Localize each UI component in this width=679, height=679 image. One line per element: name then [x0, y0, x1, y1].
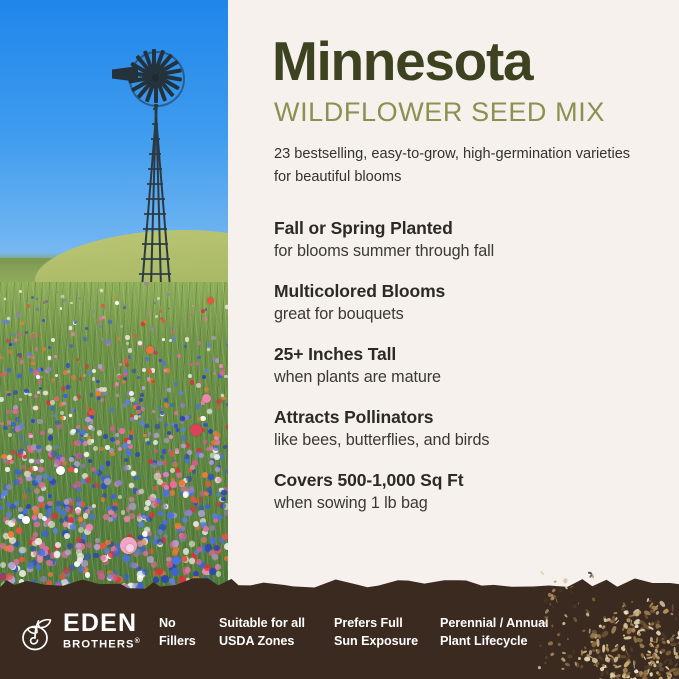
flower-bloom — [205, 481, 211, 487]
flower-bloom — [164, 423, 168, 427]
flower-bloom — [147, 556, 154, 563]
feature-title: Fall or Spring Planted — [274, 218, 651, 239]
flower-bloom — [47, 508, 52, 513]
flower-bloom — [20, 423, 25, 428]
flower-bloom — [24, 471, 30, 477]
flower-bloom — [139, 398, 143, 402]
flower-bloom — [61, 386, 66, 391]
flower-bloom — [125, 335, 129, 339]
windmill-tower-rung — [147, 183, 164, 185]
flower-bloom — [138, 341, 142, 345]
flower-bloom — [140, 393, 144, 397]
flower-bloom — [123, 306, 126, 309]
flower-bloom — [83, 337, 87, 341]
windmill-tower-rung — [152, 123, 159, 125]
flower-bloom — [179, 480, 185, 486]
flower-bloom — [25, 300, 27, 302]
flower-bloom — [63, 522, 68, 527]
flower-bloom — [112, 513, 117, 518]
flower-bloom — [185, 567, 191, 573]
flower-bloom — [76, 358, 79, 361]
flower-bloom — [174, 424, 178, 428]
flower-bloom — [147, 369, 152, 374]
flower-bloom — [126, 450, 132, 456]
flower-bloom — [70, 524, 76, 530]
flower-bloom-accent — [126, 544, 134, 552]
flower-bloom — [196, 404, 201, 409]
flower-bloom — [124, 369, 128, 373]
flower-bloom — [85, 477, 91, 483]
flower-bloom — [162, 361, 166, 365]
flower-bloom-accent — [56, 466, 65, 475]
flower-bloom — [197, 341, 201, 345]
footer-bar: EDEN BROTHERS® No Fillers Suitable for a… — [0, 589, 679, 679]
flower-bloom — [120, 325, 123, 328]
flower-bloom — [153, 486, 158, 491]
flower-bloom — [190, 465, 195, 470]
sprout-seed-icon — [20, 611, 56, 651]
flower-bloom — [92, 377, 96, 381]
product-description: 23 bestselling, easy-to-grow, high-germi… — [274, 143, 634, 187]
flower-bloom — [62, 402, 65, 405]
flower-bloom — [63, 394, 67, 398]
flower-bloom — [40, 459, 44, 463]
flower-bloom — [4, 546, 9, 551]
flower-bloom — [75, 440, 81, 446]
flower-bloom — [198, 510, 205, 517]
flower-bloom — [5, 467, 9, 471]
flower-bloom — [57, 291, 59, 293]
flower-bloom — [37, 557, 43, 563]
flower-bloom — [170, 490, 176, 496]
flower-bloom — [11, 450, 16, 455]
flower-bloom — [1, 454, 6, 459]
flower-bloom — [212, 357, 216, 361]
flower-bloom — [8, 433, 12, 437]
flower-bloom — [110, 437, 115, 442]
flower-bloom — [47, 367, 51, 371]
flower-bloom — [151, 328, 154, 331]
flower-bloom — [204, 368, 209, 373]
flower-bloom — [105, 445, 110, 450]
flower-bloom — [186, 476, 192, 482]
flower-bloom — [129, 497, 134, 502]
footer-bullet-sun-exposure: Prefers Full Sun Exposure — [334, 615, 418, 651]
flower-bloom — [219, 454, 225, 460]
flower-bloom — [64, 499, 70, 505]
flower-bloom — [167, 431, 171, 435]
flower-bloom — [60, 416, 64, 420]
flower-bloom — [171, 330, 175, 334]
flower-bloom — [76, 501, 81, 506]
flower-bloom-accent — [202, 394, 211, 403]
flower-bloom — [182, 517, 188, 523]
windmill-tower-rung — [149, 153, 161, 155]
flower-bloom — [190, 380, 194, 384]
flower-bloom — [181, 435, 186, 440]
flower-bloom — [51, 338, 55, 342]
flower-bloom — [185, 443, 189, 447]
flower-bloom — [55, 420, 60, 425]
flower-bloom — [45, 300, 48, 303]
flower-bloom — [47, 501, 53, 507]
flower-bloom — [50, 406, 55, 411]
flower-bloom — [95, 538, 100, 543]
flower-bloom — [205, 308, 207, 310]
flower-bloom — [101, 304, 104, 307]
windmill-tower-rung — [139, 273, 171, 275]
feature-subtitle: when sowing 1 lb bag — [274, 494, 651, 513]
flower-bloom — [51, 451, 57, 457]
page-title: Minnesota — [272, 34, 651, 89]
flower-bloom — [170, 542, 176, 548]
flower-bloom — [15, 417, 19, 421]
flower-bloom — [35, 538, 41, 544]
flower-bloom — [68, 467, 73, 472]
windmill-tower-rung — [146, 198, 165, 200]
windmill-tower-rung — [151, 138, 160, 140]
flower-bloom — [162, 338, 165, 341]
flower-bloom — [154, 449, 158, 453]
flower-bloom — [87, 439, 93, 445]
flower-bloom — [78, 527, 84, 533]
flower-bloom — [123, 555, 130, 562]
feature-subtitle: like bees, butterflies, and birds — [274, 431, 651, 450]
brand-name-secondary: BROTHERS® — [63, 638, 141, 651]
flower-bloom — [154, 473, 160, 479]
flower-bloom — [93, 553, 99, 559]
flower-bloom — [48, 356, 52, 360]
flower-bloom — [157, 461, 162, 466]
flower-bloom-accent — [22, 516, 30, 524]
flower-bloom — [180, 403, 185, 408]
flower-bloom — [6, 410, 10, 414]
flower-bloom — [40, 431, 45, 436]
flower-bloom — [29, 459, 34, 464]
flower-bloom — [84, 452, 89, 457]
flower-bloom — [19, 435, 23, 439]
flower-bloom — [65, 506, 70, 511]
windmill-tower-rung — [143, 228, 167, 230]
flower-bloom — [29, 435, 33, 439]
flower-bloom — [204, 564, 211, 571]
flower-bloom — [74, 468, 79, 473]
flower-bloom — [136, 410, 141, 415]
flower-bloom — [209, 550, 215, 556]
flower-bloom — [36, 564, 42, 570]
flower-bloom — [48, 435, 54, 441]
flower-bloom — [2, 320, 6, 324]
flower-bloom — [106, 340, 110, 344]
flower-bloom — [53, 528, 58, 533]
flower-bloom — [99, 325, 101, 327]
flower-bloom — [163, 472, 169, 478]
flower-bloom — [27, 562, 34, 569]
flower-bloom — [174, 382, 178, 386]
flower-bloom — [155, 315, 158, 318]
flower-bloom — [133, 334, 137, 338]
flower-bloom — [220, 503, 226, 509]
flower-bloom — [197, 417, 201, 421]
flower-bloom — [117, 337, 120, 340]
flower-bloom — [119, 428, 125, 434]
flower-bloom — [36, 445, 41, 450]
footer-bullet-plant-lifecycle: Perennial / Annual Plant Lifecycle — [440, 615, 549, 651]
flower-bloom — [7, 455, 12, 460]
flower-bloom — [32, 515, 37, 520]
flower-bloom — [170, 452, 175, 457]
flower-bloom — [98, 364, 103, 369]
flower-bloom — [97, 430, 102, 435]
flower-bloom — [75, 509, 81, 515]
flower-bloom — [57, 424, 62, 429]
flower-bloom — [213, 372, 216, 375]
flower-bloom — [221, 497, 225, 501]
flower-bloom — [14, 338, 18, 342]
flower-bloom — [92, 310, 95, 313]
flower-bloom — [17, 452, 23, 458]
flower-bloom — [162, 460, 167, 465]
windmill-icon — [112, 52, 198, 302]
windmill-tower-rung — [153, 108, 157, 110]
flower-bloom — [24, 389, 29, 394]
flower-bloom — [64, 533, 70, 539]
flower-bloom — [162, 504, 167, 509]
flower-bloom — [31, 335, 35, 339]
flower-bloom — [124, 358, 128, 362]
flower-bloom — [124, 516, 130, 522]
flower-bloom — [31, 362, 34, 365]
flower-bloom — [105, 540, 110, 545]
flower-bloom — [115, 440, 120, 445]
flower-bloom — [204, 317, 208, 321]
flower-bloom — [166, 368, 170, 372]
flower-bloom — [77, 487, 82, 492]
flower-bloom — [12, 409, 17, 414]
flower-bloom — [196, 362, 199, 365]
flower-bloom — [174, 411, 178, 415]
flower-bloom — [16, 313, 19, 316]
flower-bloom — [26, 504, 31, 509]
flower-bloom — [0, 356, 3, 359]
feature-subtitle: for blooms summer through fall — [274, 242, 651, 261]
flower-bloom — [203, 526, 209, 532]
flower-bloom — [63, 567, 70, 574]
flower-bloom-accent — [172, 556, 181, 565]
flower-bloom — [206, 487, 212, 493]
flower-bloom — [169, 339, 172, 342]
flower-bloom — [202, 472, 208, 478]
flower-bloom — [14, 469, 19, 474]
product-photo — [0, 0, 228, 610]
flower-bloom — [19, 355, 22, 358]
flower-bloom — [27, 352, 31, 356]
flower-bloom — [215, 564, 221, 570]
flower-bloom — [182, 556, 188, 562]
flower-bloom — [74, 321, 77, 324]
windmill-tower-rung — [142, 243, 169, 245]
flower-bloom — [67, 543, 73, 549]
flower-bloom — [128, 355, 131, 358]
flower-bloom — [139, 489, 144, 494]
flower-bloom — [139, 420, 144, 425]
flower-bloom — [129, 391, 134, 396]
flower-bloom — [76, 425, 80, 429]
flower-bloom — [210, 453, 216, 459]
flower-bloom — [129, 503, 135, 509]
footer-bullet-no-fillers: No Fillers — [159, 615, 196, 651]
feature-item: Attracts Pollinators like bees, butterfl… — [272, 407, 651, 450]
feature-list: Fall or Spring Planted for blooms summer… — [272, 218, 651, 513]
feature-item: Covers 500-1,000 Sq Ft when sowing 1 lb … — [272, 470, 651, 513]
flower-bloom — [91, 427, 95, 431]
flower-bloom — [83, 441, 88, 446]
windmill-tower-rung — [148, 168, 162, 170]
flower-bloom — [213, 446, 219, 452]
flower-bloom — [103, 434, 107, 438]
flower-bloom-accent — [207, 297, 214, 304]
flower-bloom — [167, 388, 171, 392]
flower-bloom — [21, 465, 26, 470]
flower-bloom — [7, 420, 12, 425]
flower-bloom — [76, 543, 81, 548]
flower-bloom — [38, 467, 43, 472]
flower-bloom — [111, 494, 116, 499]
flower-bloom — [53, 414, 56, 417]
flower-bloom — [164, 398, 168, 402]
flower-bloom — [129, 483, 134, 488]
flower-bloom — [66, 363, 70, 367]
flower-bloom — [104, 478, 110, 484]
flower-bloom — [145, 500, 151, 506]
flower-bloom — [190, 496, 196, 502]
flower-bloom — [42, 347, 46, 351]
flower-bloom — [129, 562, 135, 568]
flower-bloom — [9, 343, 12, 346]
flower-bloom — [160, 411, 164, 415]
flower-bloom — [181, 533, 187, 539]
flower-bloom — [78, 566, 85, 573]
flower-bloom — [148, 459, 153, 464]
flower-bloom — [61, 295, 64, 298]
feature-subtitle: great for bouquets — [274, 305, 651, 324]
flower-bloom — [170, 403, 173, 406]
flower-bloom — [204, 387, 209, 392]
flower-bloom — [73, 484, 77, 488]
flower-bloom — [54, 359, 57, 362]
flower-bloom — [45, 512, 51, 518]
feature-item: 25+ Inches Tall when plants are mature — [272, 344, 651, 387]
feature-title: Attracts Pollinators — [274, 407, 651, 428]
flower-bloom — [196, 383, 201, 388]
flower-bloom — [3, 426, 8, 431]
flower-bloom — [211, 336, 215, 340]
flower-bloom — [83, 513, 89, 519]
flower-bloom — [48, 521, 55, 528]
brand-name-primary: EDEN — [63, 611, 141, 636]
flower-bloom — [170, 481, 176, 487]
flower-bloom — [129, 513, 135, 519]
flower-bloom — [85, 417, 90, 422]
flower-bloom — [145, 357, 149, 361]
flower-bloom — [142, 368, 146, 372]
flower-bloom — [190, 314, 192, 316]
flower-bloom — [98, 321, 102, 325]
flower-bloom — [130, 397, 135, 402]
flower-bloom — [144, 282, 148, 286]
content-panel: Minnesota WILDFLOWER SEED MIX 23 bestsel… — [228, 0, 679, 610]
flower-bloom — [209, 460, 214, 465]
flower-bloom — [13, 479, 19, 485]
flower-bloom — [17, 374, 21, 378]
brand-logo[interactable]: EDEN BROTHERS® — [20, 611, 141, 651]
flower-bloom — [207, 409, 212, 414]
flower-bloom — [51, 378, 55, 382]
flower-bloom — [99, 447, 104, 452]
flower-bloom — [171, 568, 178, 575]
flower-bloom — [96, 380, 99, 383]
flower-bloom — [42, 319, 45, 322]
windmill-tower-rung — [141, 258, 170, 260]
flower-bloom — [210, 537, 216, 543]
flower-bloom — [207, 343, 211, 347]
flower-bloom — [55, 506, 61, 512]
flower-bloom — [128, 348, 133, 353]
feature-title: Covers 500-1,000 Sq Ft — [274, 470, 651, 491]
feature-item: Fall or Spring Planted for blooms summer… — [272, 218, 651, 261]
flower-bloom — [54, 355, 57, 358]
flower-bloom — [163, 489, 169, 495]
flower-bloom — [216, 492, 221, 497]
flower-bloom — [77, 553, 84, 560]
flower-bloom — [34, 522, 39, 527]
feature-title: Multicolored Blooms — [274, 281, 651, 302]
flower-bloom — [36, 459, 40, 463]
flower-bloom — [190, 363, 193, 366]
flower-bloom — [71, 375, 76, 380]
flower-bloom — [77, 395, 81, 399]
flower-bloom — [60, 411, 64, 415]
flower-bloom — [90, 415, 94, 419]
flower-bloom — [32, 332, 35, 335]
flower-bloom — [89, 514, 94, 519]
feature-item: Multicolored Blooms great for bouquets — [272, 281, 651, 324]
windmill-tower-rung — [144, 213, 166, 215]
flower-bloom — [106, 506, 111, 511]
flower-bloom-accent — [146, 346, 154, 354]
flower-bloom — [0, 397, 4, 402]
product-infographic: Minnesota WILDFLOWER SEED MIX 23 bestsel… — [0, 0, 679, 679]
flower-bloom-accent — [190, 424, 202, 436]
flower-bloom — [123, 465, 129, 471]
flower-bloom — [219, 364, 223, 368]
flower-bloom — [7, 393, 10, 396]
flower-bloom — [136, 406, 140, 410]
flower-bloom — [179, 391, 183, 395]
flower-bloom — [149, 548, 154, 553]
flower-bloom — [101, 338, 104, 341]
footer-bullet-usda-zones: Suitable for all USDA Zones — [219, 615, 305, 651]
flower-bloom — [78, 297, 80, 299]
flower-bloom — [210, 525, 215, 530]
flower-bloom — [51, 513, 57, 519]
flower-bloom — [3, 458, 7, 462]
flower-bloom — [175, 468, 180, 473]
flower-bloom — [38, 502, 44, 508]
flower-bloom — [129, 430, 134, 435]
flower-bloom — [188, 486, 194, 492]
flower-bloom — [67, 370, 70, 373]
